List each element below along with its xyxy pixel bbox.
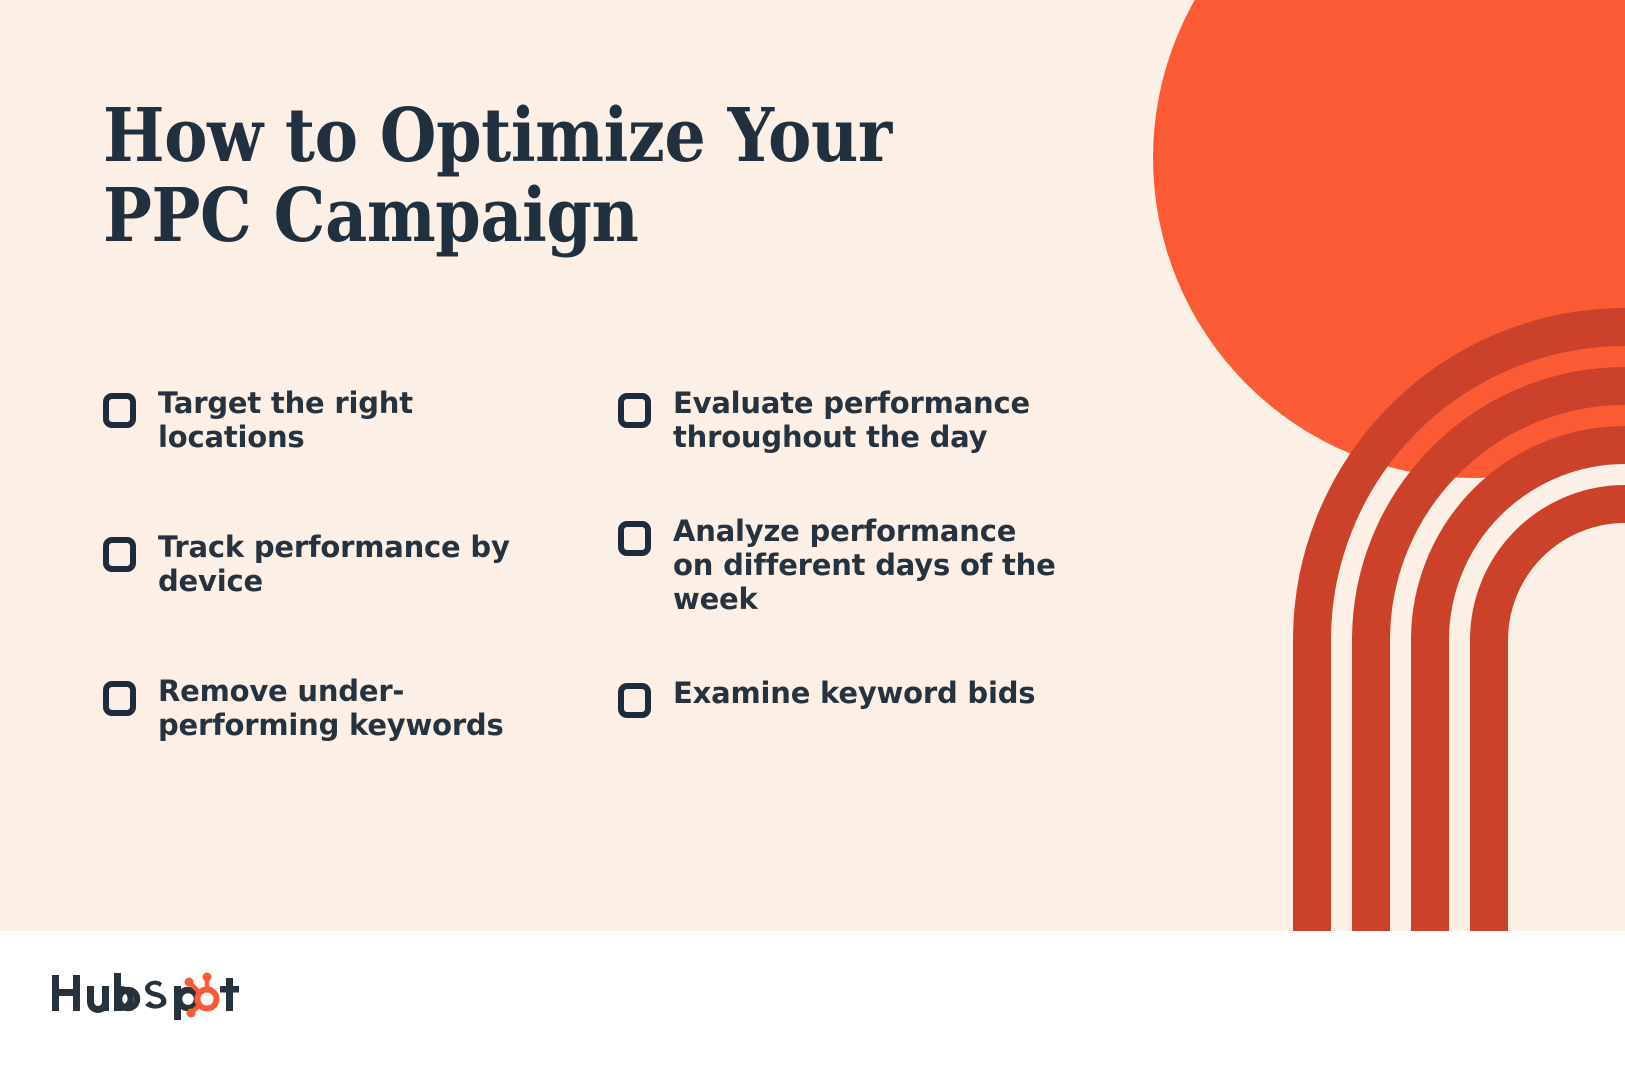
hubspot-sprocket-logo <box>50 965 240 1021</box>
page-title: How to Optimize Your PPC Campaign <box>103 96 1003 256</box>
unchecked-checkbox-icon[interactable] <box>618 683 651 718</box>
checklist-column-left: Target the right locations Track perform… <box>103 386 618 742</box>
checklist-column-right: Evaluate performance throughout the day … <box>618 386 1133 742</box>
checklist-item-label: Remove under-performing keywords <box>158 674 558 742</box>
hubspot-sprocket-icon <box>185 973 217 1018</box>
arc-stripe-4 <box>1489 504 1625 931</box>
checklist-item-label: Evaluate performance throughout the day <box>673 386 1063 454</box>
footer-band <box>0 931 1625 1083</box>
checklist-item[interactable]: Analyze performance on different days of… <box>618 514 1133 616</box>
unchecked-checkbox-icon[interactable] <box>618 393 651 428</box>
checklist-item[interactable]: Track performance by device <box>103 530 618 598</box>
unchecked-checkbox-icon[interactable] <box>103 681 136 716</box>
arc-stripe-3 <box>1430 445 1625 931</box>
checklist: Target the right locations Track perform… <box>103 386 1133 742</box>
checklist-item-label: Target the right locations <box>158 386 558 454</box>
unchecked-checkbox-icon[interactable] <box>103 393 136 428</box>
infographic-canvas: How to Optimize Your PPC Campaign Target… <box>0 0 1625 1083</box>
checklist-item-label: Analyze performance on different days of… <box>673 514 1063 616</box>
page-title-line-1: How to Optimize Your <box>103 96 895 176</box>
orange-arc-stripes <box>1312 327 1625 931</box>
hubspot-wordmark-text <box>52 973 239 1020</box>
checklist-item[interactable]: Remove under-performing keywords <box>103 674 618 742</box>
checklist-item-label: Examine keyword bids <box>673 676 1035 710</box>
checklist-item-label: Track performance by device <box>158 530 558 598</box>
checklist-item[interactable]: Evaluate performance throughout the day <box>618 386 1133 454</box>
main-cream-panel: How to Optimize Your PPC Campaign Target… <box>0 0 1625 931</box>
arc-stripe-2 <box>1371 386 1625 931</box>
checklist-item[interactable]: Target the right locations <box>103 386 618 454</box>
page-title-line-2: PPC Campaign <box>103 176 895 256</box>
unchecked-checkbox-icon[interactable] <box>618 521 651 556</box>
checklist-item[interactable]: Examine keyword bids <box>618 676 1133 718</box>
arc-stripe-1 <box>1312 327 1625 931</box>
orange-circle-shape <box>1153 0 1625 478</box>
unchecked-checkbox-icon[interactable] <box>103 537 136 572</box>
